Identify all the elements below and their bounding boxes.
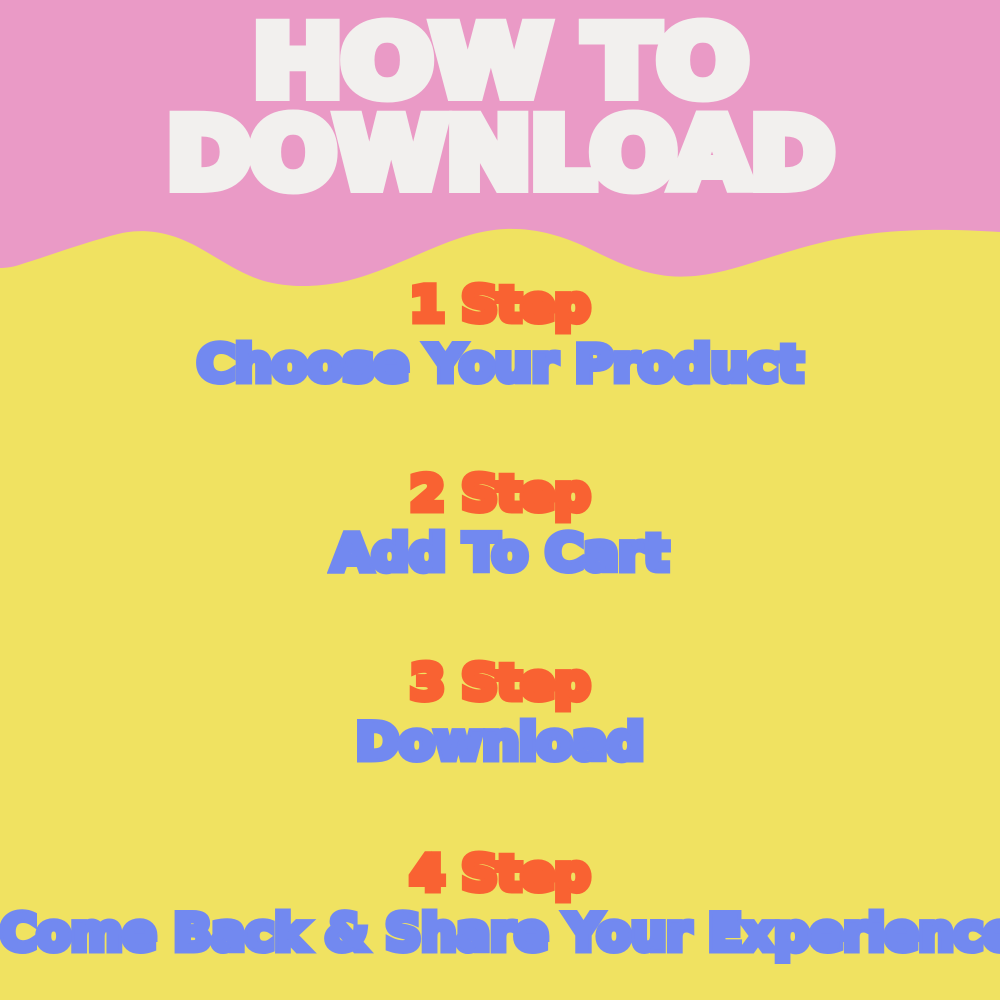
header-band	[0, 0, 1000, 300]
step-item-3: 3 Step Download	[0, 658, 1000, 769]
wave-divider-icon	[0, 0, 1000, 300]
step-label-2: 2 Step	[0, 469, 1000, 520]
step-label-3: 3 Step	[0, 658, 1000, 709]
step-title-4: Come Back & Share Your Experience	[0, 906, 1000, 960]
step-label-4: 4 Step	[0, 849, 1000, 900]
step-item-4: 4 Step Come Back & Share Your Experience	[0, 849, 1000, 960]
step-title-2: Add To Cart	[0, 526, 1000, 580]
step-label-1: 1 Step	[0, 280, 1000, 331]
step-title-1: Choose Your Product	[0, 337, 1000, 391]
step-title-3: Download	[0, 715, 1000, 769]
step-item-2: 2 Step Add To Cart	[0, 469, 1000, 580]
steps-list: 1 Step Choose Your Product 2 Step Add To…	[0, 280, 1000, 960]
how-to-download-poster: HOW TO DOWNLOAD 1 Step Choose Your Produ…	[0, 0, 1000, 1000]
step-item-1: 1 Step Choose Your Product	[0, 280, 1000, 391]
